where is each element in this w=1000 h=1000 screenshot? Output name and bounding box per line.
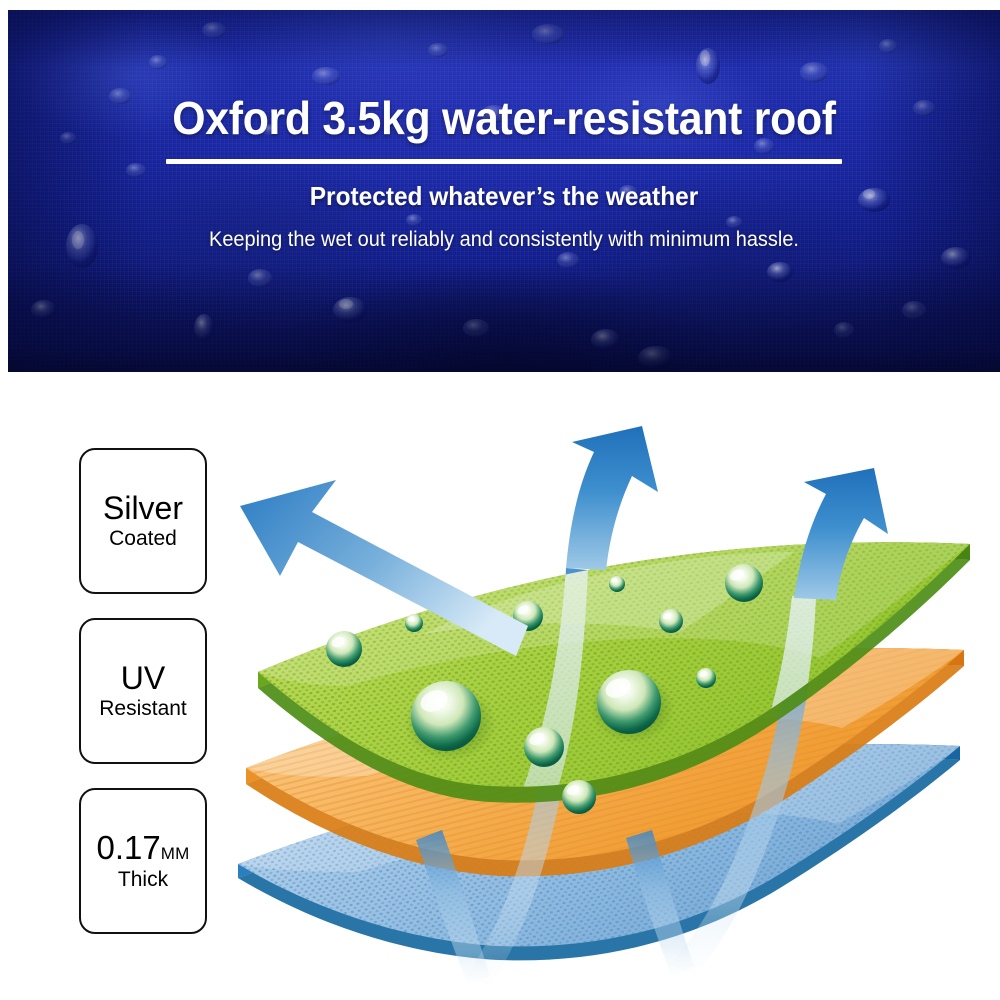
hero-subtitle: Protected whatever’s the weather xyxy=(38,181,970,212)
hero-title: Oxford 3.5kg water-resistant roof xyxy=(43,94,966,142)
hero-body-text: Keeping the wet out reliably and consist… xyxy=(33,226,975,254)
arrow-middle-icon xyxy=(566,426,658,570)
badge-thickness-main: 0.17MM xyxy=(97,831,190,865)
hero-banner: Oxford 3.5kg water-resistant roof Protec… xyxy=(8,10,1000,372)
fabric-layer-diagram-svg xyxy=(228,420,1000,1000)
badge-thickness-unit: MM xyxy=(161,844,190,863)
badge-silver-coated-sub: Coated xyxy=(109,527,177,550)
badge-uv-resistant-sub: Resistant xyxy=(99,697,187,720)
badge-thickness-value: 0.17 xyxy=(97,829,161,866)
product-feature-page: Oxford 3.5kg water-resistant roof Protec… xyxy=(0,0,1000,1000)
feature-badge-list: Silver Coated UV Resistant 0.17MM Thick xyxy=(79,448,207,958)
badge-silver-coated-main: Silver xyxy=(103,492,183,525)
badge-thickness: 0.17MM Thick xyxy=(79,788,207,934)
badge-uv-resistant: UV Resistant xyxy=(79,618,207,764)
badge-thickness-sub: Thick xyxy=(118,868,168,891)
badge-uv-resistant-main: UV xyxy=(121,662,165,695)
hero-text-block: Oxford 3.5kg water-resistant roof Protec… xyxy=(8,94,1000,254)
hero-title-underline xyxy=(166,159,842,164)
badge-silver-coated: Silver Coated xyxy=(79,448,207,594)
fabric-layer-illustration xyxy=(228,420,1000,1000)
